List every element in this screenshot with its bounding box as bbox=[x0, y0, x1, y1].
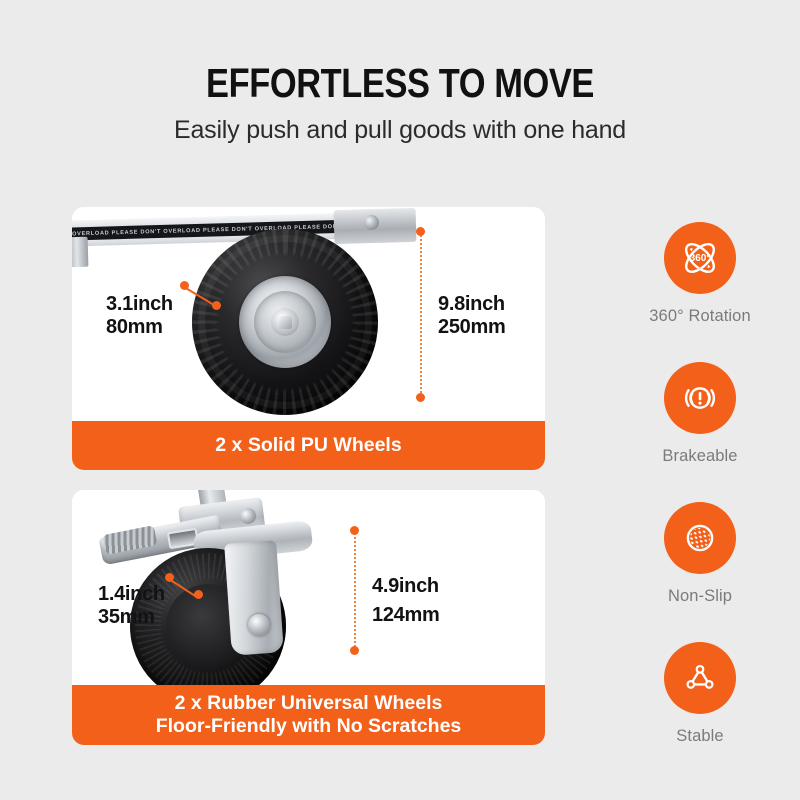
axle-bolt bbox=[364, 215, 379, 230]
hub-core bbox=[271, 308, 299, 336]
measurement-inch: 4.9inch bbox=[372, 572, 439, 601]
card-footer-line: 2 x Solid PU Wheels bbox=[215, 434, 401, 457]
product-card-rubber-universal-wheels: 1.4inch 35mm 4.9inch 124mm 2 x Rubber Un… bbox=[72, 490, 545, 745]
product-photo-pu-wheel: OVERLOAD PLEASE DON'T OVERLOAD PLEASE DO… bbox=[72, 207, 545, 421]
header: EFFORTLESS TO MOVE Easily push and pull … bbox=[0, 62, 800, 145]
triangle-nodes-icon bbox=[664, 642, 736, 714]
hub-nut bbox=[279, 316, 292, 329]
measurement-tire-width: 1.4inch 35mm bbox=[98, 583, 165, 629]
diameter-dot-top bbox=[416, 227, 425, 236]
tread-pattern-icon bbox=[664, 502, 736, 574]
page-subtitle: Easily push and pull goods with one hand bbox=[0, 116, 800, 145]
card-footer-line: 2 x Rubber Universal Wheels bbox=[175, 692, 443, 715]
caster-fork-bracket bbox=[224, 540, 284, 655]
feature-non-slip: Non-Slip bbox=[612, 502, 788, 642]
measurement-mm: 80mm bbox=[106, 316, 173, 339]
measurement-wheel-diameter: 4.9inch 124mm bbox=[372, 572, 439, 630]
diameter-dot-bottom bbox=[416, 393, 425, 402]
diameter-dimension-line bbox=[354, 530, 356, 650]
rail-foot-plate bbox=[72, 237, 88, 268]
measurement-mm: 124mm bbox=[372, 601, 439, 630]
rotation-360-icon: 360° bbox=[664, 222, 736, 294]
feature-label: Stable bbox=[612, 727, 788, 746]
feature-label: Brakeable bbox=[612, 447, 788, 466]
product-photo-swivel-caster: 1.4inch 35mm 4.9inch 124mm bbox=[72, 490, 545, 685]
width-leader-dot-end bbox=[194, 590, 203, 599]
feature-label: Non-Slip bbox=[612, 587, 788, 606]
measurement-inch: 3.1inch bbox=[106, 293, 173, 316]
card-footer-line: Floor-Friendly with No Scratches bbox=[156, 715, 462, 738]
feature-360-rotation: 360° 360° Rotation bbox=[612, 222, 788, 362]
measurement-inch: 1.4inch bbox=[98, 583, 165, 606]
wheel-hub bbox=[239, 276, 331, 368]
measurement-mm: 35mm bbox=[98, 606, 165, 629]
feature-label: 360° Rotation bbox=[612, 307, 788, 326]
measurement-mm: 250mm bbox=[438, 316, 505, 339]
measurement-inch: 9.8inch bbox=[438, 293, 505, 316]
svg-text:360°: 360° bbox=[690, 253, 711, 264]
product-card-solid-pu-wheels: OVERLOAD PLEASE DON'T OVERLOAD PLEASE DO… bbox=[72, 207, 545, 470]
diameter-dot-bottom bbox=[350, 646, 359, 655]
pu-wheel-tire bbox=[192, 229, 378, 415]
diameter-dimension-line bbox=[420, 231, 422, 397]
infographic-page: EFFORTLESS TO MOVE Easily push and pull … bbox=[0, 0, 800, 800]
caster-axle-bolt bbox=[248, 614, 270, 636]
measurement-wheel-diameter: 9.8inch 250mm bbox=[438, 293, 505, 339]
measurement-tire-width: 3.1inch 80mm bbox=[106, 293, 173, 339]
diameter-dot-top bbox=[350, 526, 359, 535]
card-footer-rubber-universal-wheels: 2 x Rubber Universal Wheels Floor-Friend… bbox=[72, 685, 545, 745]
card-footer-solid-pu-wheels: 2 x Solid PU Wheels bbox=[72, 421, 545, 470]
hub-ring bbox=[254, 291, 316, 353]
feature-list: 360° 360° Rotation Brakeable bbox=[612, 222, 788, 782]
feature-brakeable: Brakeable bbox=[612, 362, 788, 502]
brake-warning-icon bbox=[664, 362, 736, 434]
page-title: EFFORTLESS TO MOVE bbox=[64, 62, 736, 105]
feature-stable: Stable bbox=[612, 642, 788, 782]
width-leader-dot-end bbox=[212, 301, 221, 310]
